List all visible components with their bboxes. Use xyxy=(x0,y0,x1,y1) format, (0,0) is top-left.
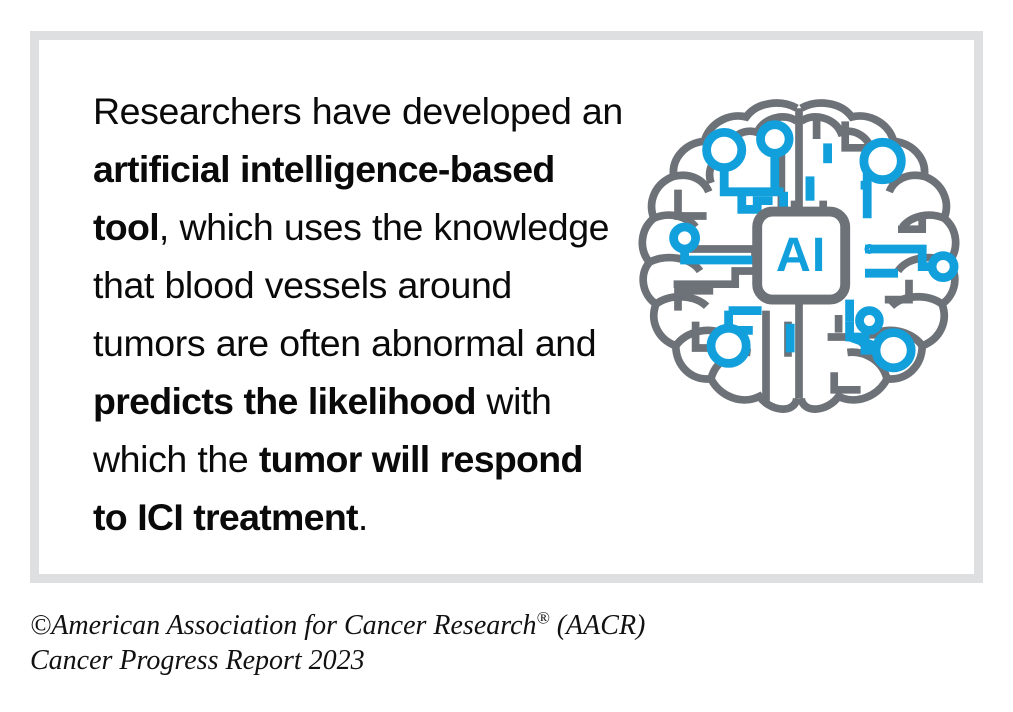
attribution-line-1-prefix: ©American Association for Cancer Researc… xyxy=(30,610,537,641)
ai-brain-circuit-icon: AI xyxy=(634,95,964,425)
attribution-line-1-suffix: (AACR) xyxy=(550,610,646,641)
callout-inner-panel: Researchers have developed an artificial… xyxy=(39,40,974,574)
statement-segment-3: predicts the likelihood xyxy=(93,380,476,422)
statement-text: Researchers have developed an artificial… xyxy=(93,82,623,546)
callout-box: Researchers have developed an artificial… xyxy=(30,31,983,583)
statement-segment-2: , which uses the knowledge that blood ve… xyxy=(93,206,609,364)
statement-segment-0: Researchers have developed an xyxy=(93,90,623,132)
attribution-line-1: ©American Association for Cancer Researc… xyxy=(30,608,730,643)
statement-segment-6: . xyxy=(358,496,368,538)
attribution-line-2: Cancer Progress Report 2023 xyxy=(30,643,730,678)
ai-chip-label: AI xyxy=(776,228,827,282)
attribution-caption: ©American Association for Cancer Researc… xyxy=(30,608,730,678)
registered-trademark-icon: ® xyxy=(537,609,550,628)
